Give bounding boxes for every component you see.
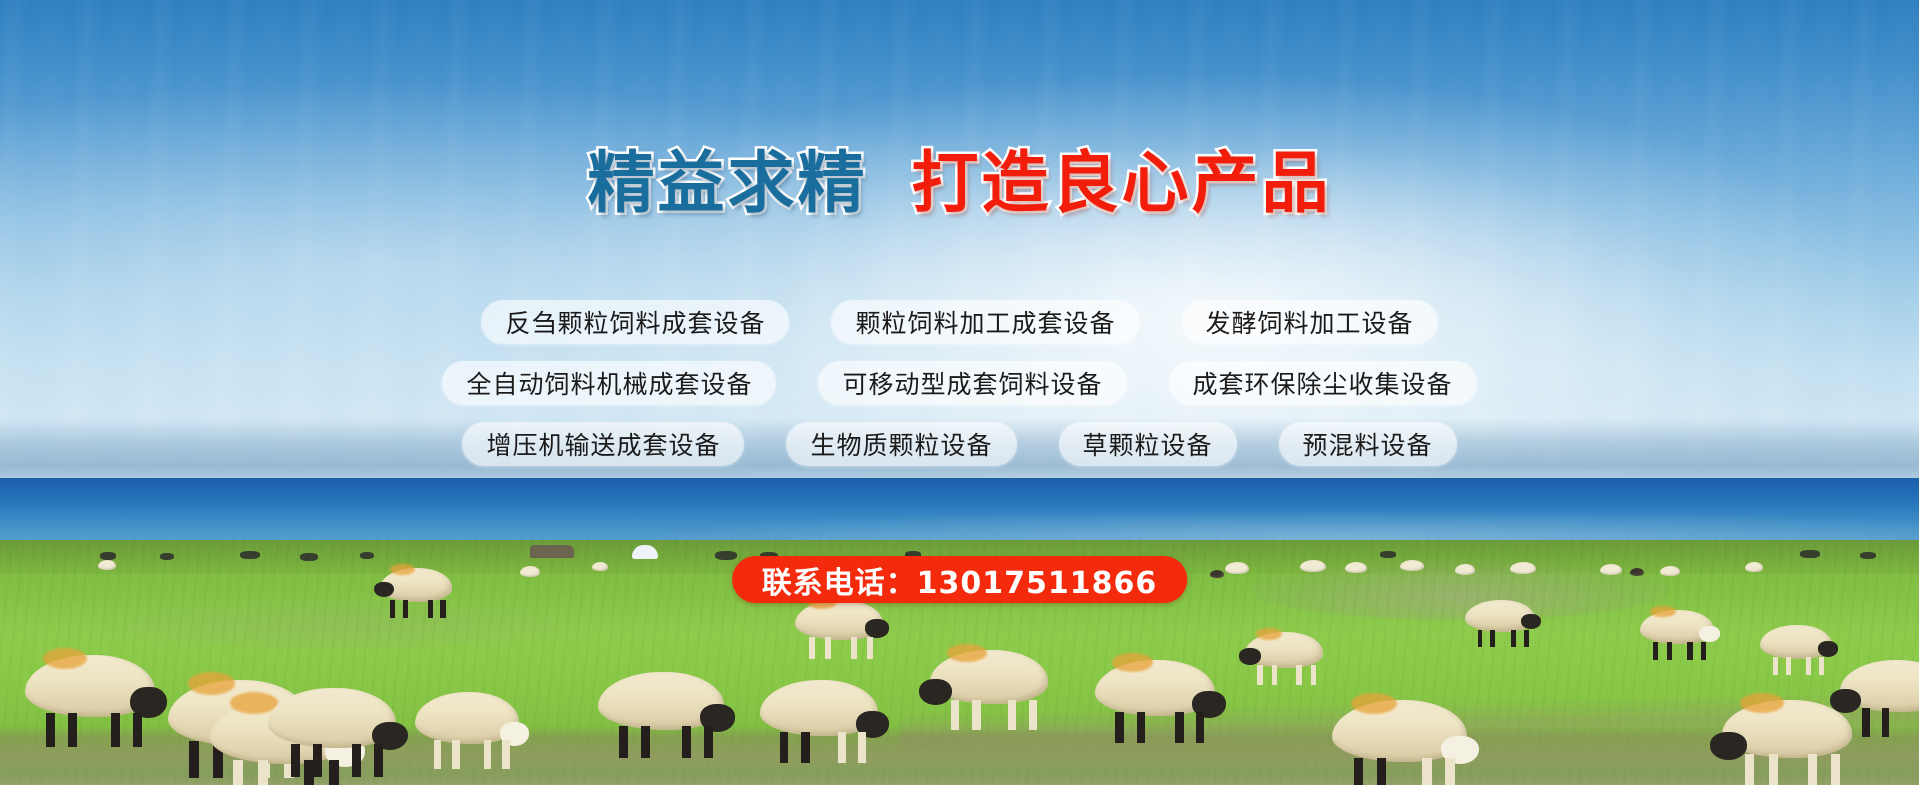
product-tag[interactable]: 生物质颗粒设备 xyxy=(786,422,1016,466)
sheep xyxy=(760,680,878,736)
promo-banner: 精益求精打造良心产品 反刍颗粒饲料成套设备 颗粒饲料加工成套设备 发酵饲料加工设… xyxy=(0,0,1919,785)
distant-sheep xyxy=(1210,570,1224,578)
far-livestock-dot xyxy=(360,552,374,559)
sheep xyxy=(1332,700,1467,762)
sheep xyxy=(415,692,519,744)
sheep xyxy=(930,650,1048,704)
far-hut xyxy=(530,545,574,558)
distant-sheep xyxy=(1630,568,1644,576)
distant-sheep xyxy=(1300,560,1326,572)
product-tag-row: 增压机输送成套设备 生物质颗粒设备 草颗粒设备 预混料设备 xyxy=(0,422,1919,466)
sheep xyxy=(1760,625,1832,659)
headline-blue-text: 精益求精 xyxy=(588,144,868,222)
sheep xyxy=(598,672,724,730)
far-livestock-dot xyxy=(100,552,116,560)
sheep xyxy=(1640,610,1714,644)
distant-sheep xyxy=(1510,562,1536,574)
sheep xyxy=(795,600,883,640)
sheep xyxy=(1245,632,1323,668)
product-tag-row: 全自动饲料机械成套设备 可移动型成套饲料设备 成套环保除尘收集设备 xyxy=(0,361,1919,405)
product-tag[interactable]: 反刍颗粒饲料成套设备 xyxy=(481,300,789,344)
product-tag[interactable]: 成套环保除尘收集设备 xyxy=(1169,361,1477,405)
product-tag[interactable]: 可移动型成套饲料设备 xyxy=(818,361,1126,405)
distant-sheep xyxy=(1225,562,1249,574)
far-livestock-dot xyxy=(300,553,318,561)
distant-sheep xyxy=(1345,562,1367,573)
sheep xyxy=(380,568,452,602)
sheep xyxy=(1840,660,1919,712)
headline-red-text: 打造良心产品 xyxy=(912,144,1332,222)
far-livestock-dot xyxy=(1860,552,1876,559)
far-livestock-dot xyxy=(240,551,260,559)
lake-shine xyxy=(0,478,1919,543)
distant-sheep xyxy=(1400,560,1424,571)
far-livestock-dot xyxy=(715,551,737,560)
distant-sheep xyxy=(98,560,116,570)
sheep xyxy=(1465,600,1535,632)
distant-sheep xyxy=(1745,562,1763,572)
distant-sheep xyxy=(520,566,540,577)
sheep xyxy=(25,655,155,717)
product-tag-list: 反刍颗粒饲料成套设备 颗粒饲料加工成套设备 发酵饲料加工设备 全自动饲料机械成套… xyxy=(0,300,1919,483)
far-livestock-dot xyxy=(1380,551,1396,558)
far-yurt xyxy=(632,545,658,559)
sheep xyxy=(1095,660,1215,716)
product-tag[interactable]: 全自动饲料机械成套设备 xyxy=(442,361,776,405)
far-livestock-dot xyxy=(1800,550,1820,558)
product-tag-row: 反刍颗粒饲料成套设备 颗粒饲料加工成套设备 发酵饲料加工设备 xyxy=(0,300,1919,344)
distant-sheep xyxy=(1600,564,1622,575)
product-tag[interactable]: 草颗粒设备 xyxy=(1059,422,1237,466)
product-tag[interactable]: 预混料设备 xyxy=(1279,422,1457,466)
product-tag[interactable]: 颗粒饲料加工成套设备 xyxy=(831,300,1139,344)
distant-sheep xyxy=(1660,566,1680,576)
contact-phone-button[interactable]: 联系电话：13017511866 xyxy=(732,556,1188,603)
banner-headline: 精益求精打造良心产品 xyxy=(0,150,1919,217)
far-livestock-dot xyxy=(160,553,174,560)
distant-sheep xyxy=(592,562,608,571)
product-tag[interactable]: 增压机输送成套设备 xyxy=(462,422,744,466)
sheep xyxy=(268,688,396,748)
sheep xyxy=(1722,700,1852,758)
distant-sheep xyxy=(1455,564,1475,575)
product-tag[interactable]: 发酵饲料加工设备 xyxy=(1182,300,1438,344)
